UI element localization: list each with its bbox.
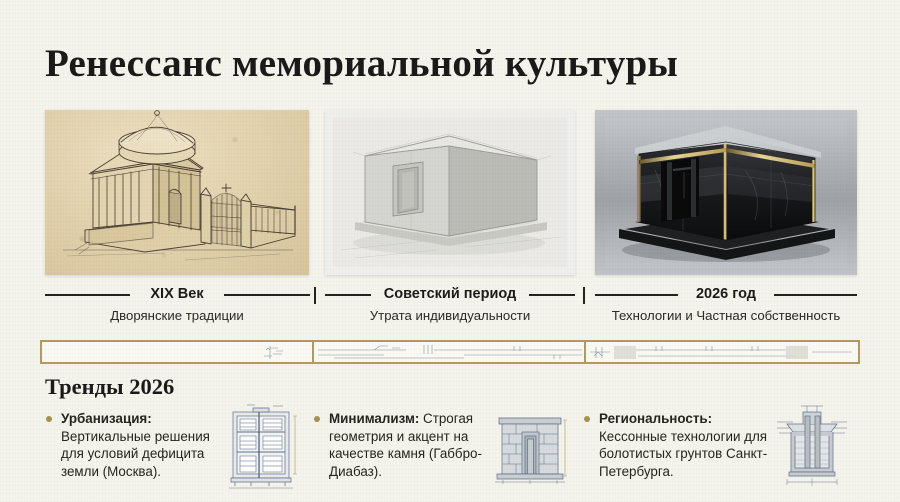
slide-root: Ренессанс мемориальной культуры [0, 0, 900, 502]
trend-text: Минимализм: Строгая геометрия и акцент н… [329, 410, 489, 480]
timeline-rule-right-1 [224, 294, 310, 296]
timeline-rule-right-3 [774, 294, 857, 296]
black-granite-crypt-icon [595, 110, 857, 275]
bullet-icon [584, 416, 590, 422]
concrete-render-canvas [325, 110, 575, 275]
trend-item-regionality: Региональность: Кессонные технологии для… [583, 410, 858, 480]
blueprint-cell-1 [42, 342, 314, 362]
trend-description: Вертикальные решения для условий дефицит… [61, 429, 210, 479]
columbarium-section-icon [225, 402, 303, 490]
trend-body: Региональность: Кессонные технологии для… [583, 410, 769, 480]
blueprint-cell-3 [586, 342, 858, 362]
concrete-box-icon [325, 110, 575, 275]
blueprint-divider-strip [40, 340, 860, 364]
bullet-icon [314, 416, 320, 422]
blueprint-lines-icon [314, 342, 586, 362]
period-image-2026 [595, 110, 857, 275]
granite-render-canvas [595, 110, 857, 275]
timeline-rule-right-2 [529, 294, 575, 296]
period-image-soviet [325, 110, 575, 275]
blueprint-cell-2 [314, 342, 586, 362]
trend-body: Минимализм: Строгая геометрия и акцент н… [313, 410, 489, 480]
trend-term: Урбанизация: [61, 411, 152, 426]
bullet-icon [46, 416, 52, 422]
timeline-tick-2 [583, 287, 585, 304]
stone-crypt-facade-icon [493, 402, 571, 490]
page-title: Ренессанс мемориальной культуры [45, 41, 678, 86]
blueprint-lines-icon [42, 342, 314, 362]
trends-heading: Тренды 2026 [45, 374, 174, 400]
sepia-sketch-canvas [45, 110, 309, 275]
timeline: XIX Век Дворянские традиции Советский пе… [0, 286, 900, 332]
timeline-sublabel-2: Утрата индивидуальности [325, 308, 575, 323]
timeline-sublabel-1: Дворянские традиции [45, 308, 309, 323]
trend-item-urbanization: Урбанизация: Вертикальные решения для ус… [45, 410, 310, 480]
trend-text: Урбанизация: Вертикальные решения для ус… [61, 410, 221, 480]
trend-item-minimalism: Минимализм: Строгая геометрия и акцент н… [313, 410, 578, 480]
trend-description: Кессонные технологии для болотистых грун… [599, 429, 767, 479]
caisson-diagram-icon [773, 402, 851, 490]
blueprint-lines-icon [586, 342, 858, 362]
period-image-xix-century [45, 110, 309, 275]
trend-text: Региональность: Кессонные технологии для… [599, 410, 769, 480]
trend-term: Региональность: [599, 411, 712, 426]
mausoleum-sketch-icon [45, 110, 309, 275]
trend-body: Урбанизация: Вертикальные решения для ус… [45, 410, 221, 480]
timeline-tick-1 [314, 287, 316, 304]
timeline-image-row [0, 110, 900, 275]
timeline-sublabel-3: Технологии и Частная собственность [590, 308, 862, 323]
trend-term: Минимализм: [329, 411, 419, 426]
